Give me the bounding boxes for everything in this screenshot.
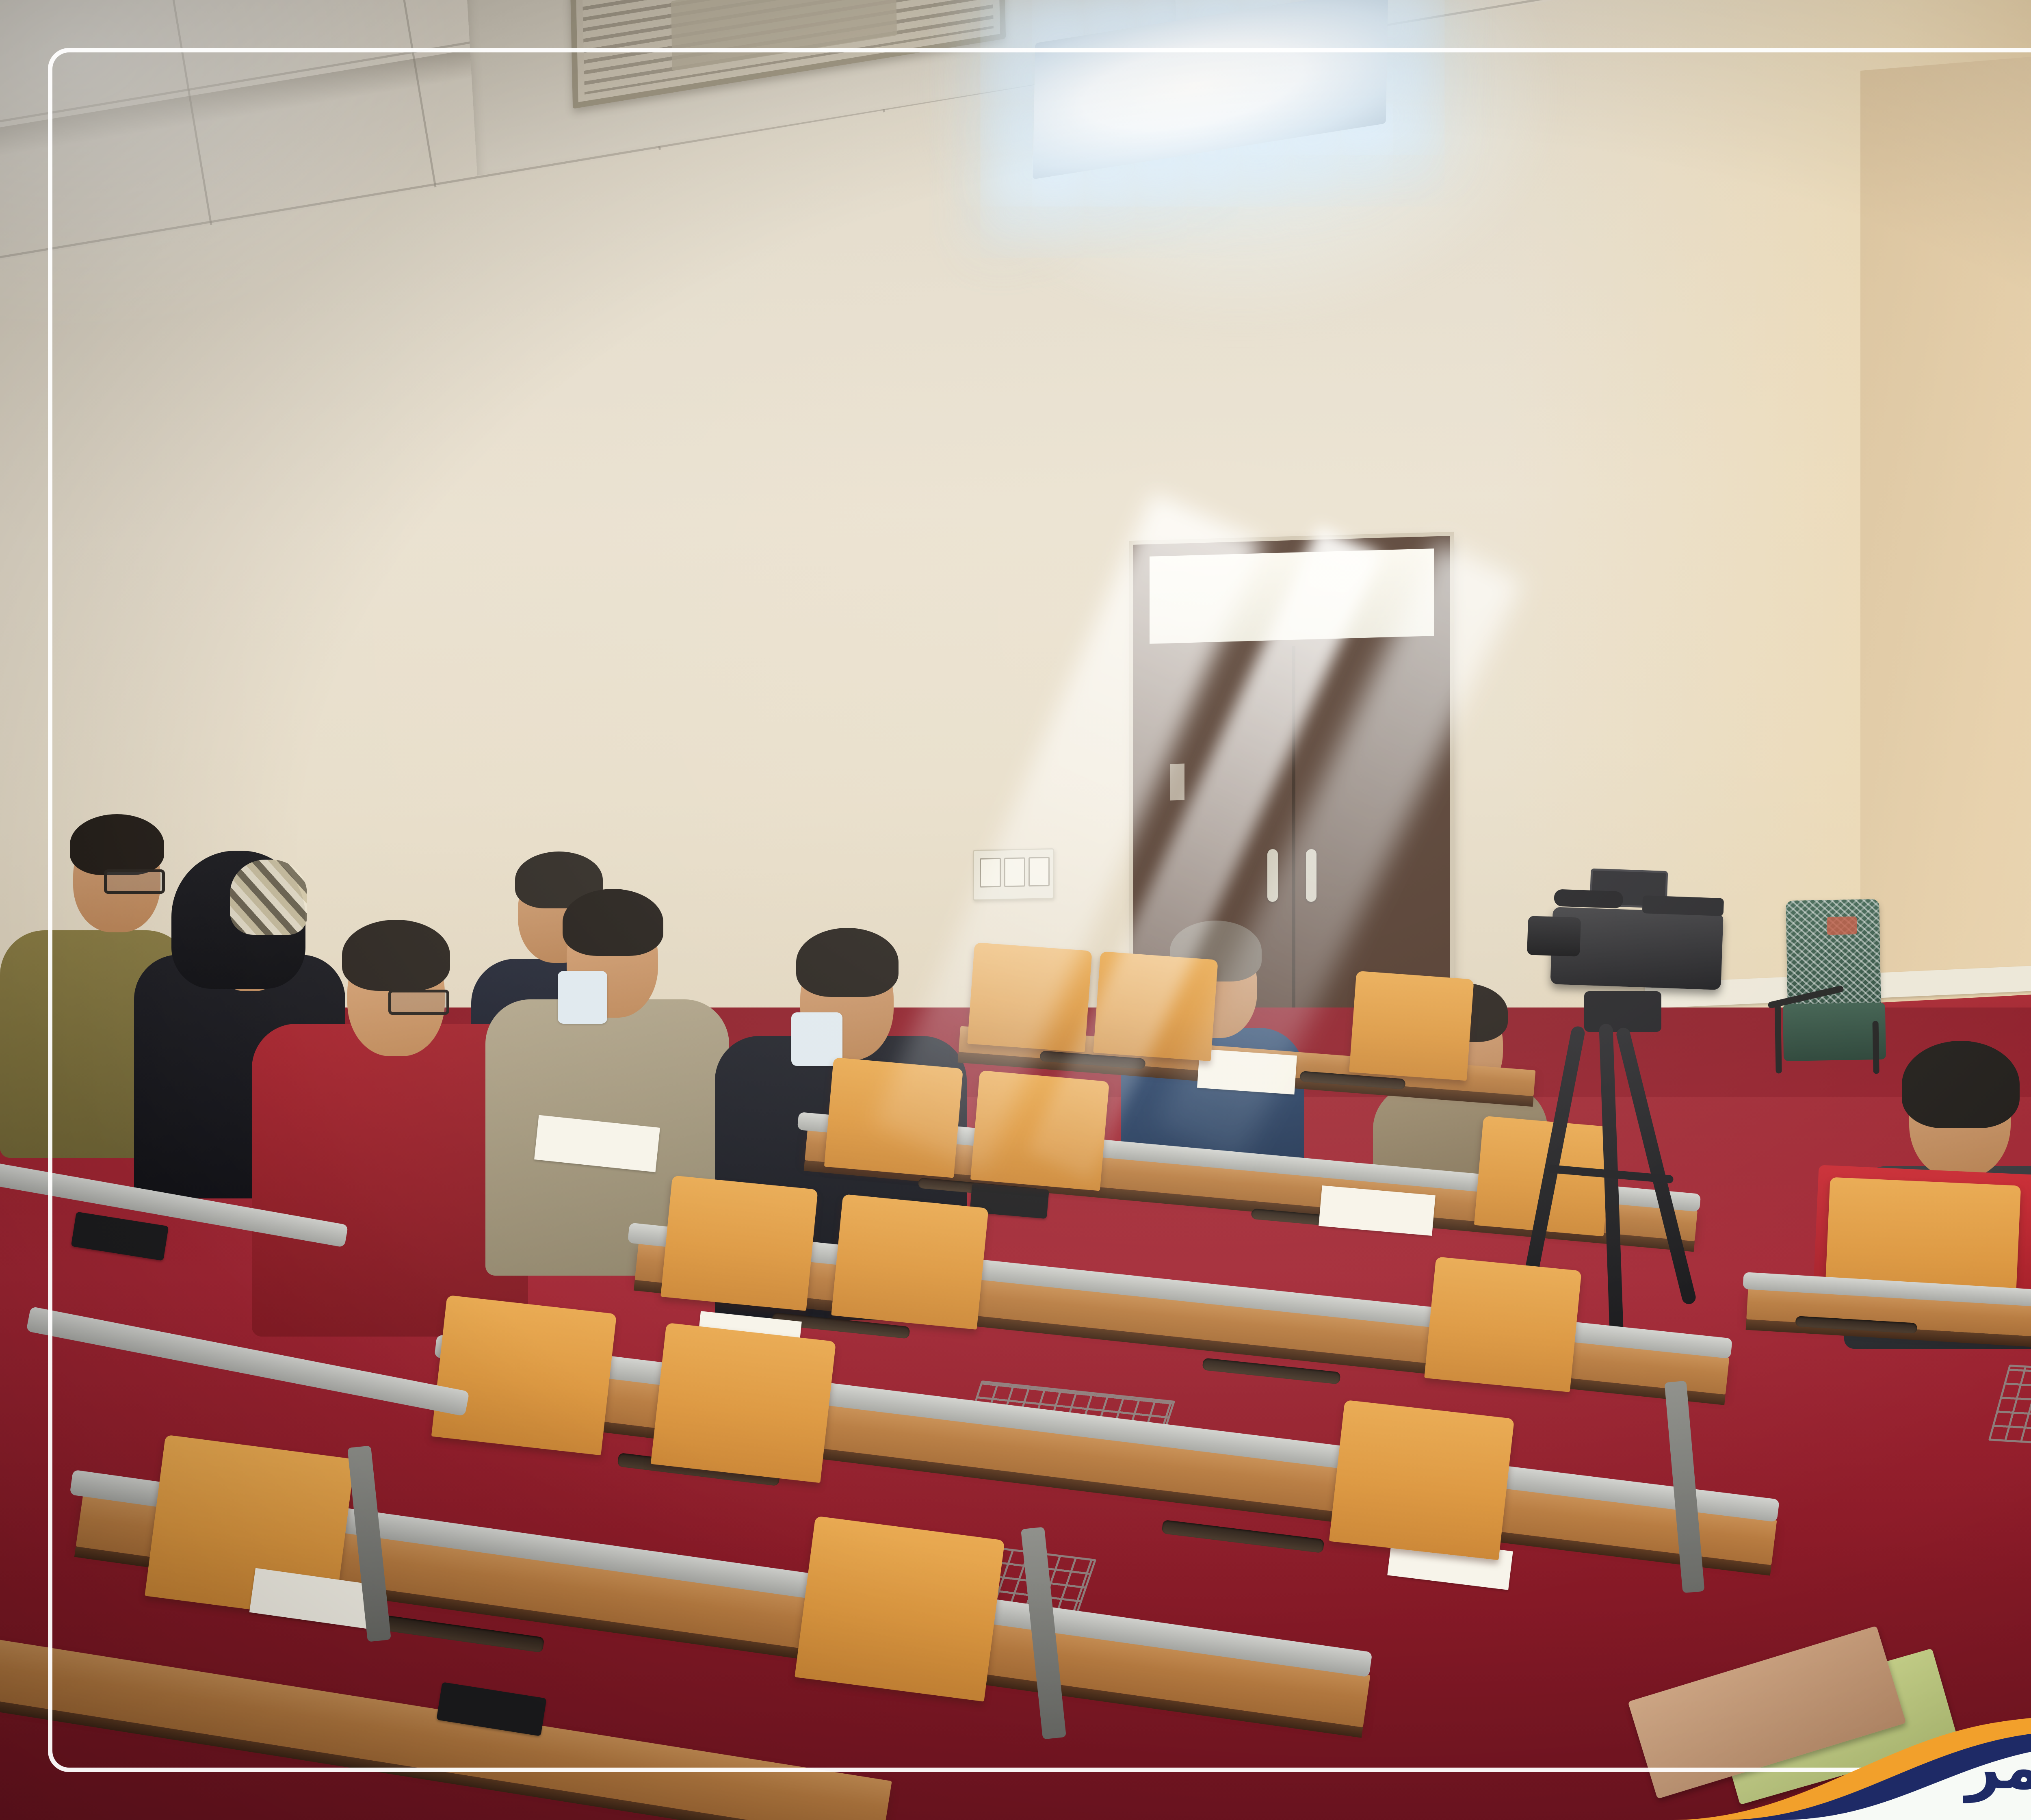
video-camera-icon[interactable] [1525, 882, 1757, 1007]
seat-back[interactable] [1093, 951, 1218, 1062]
door-handle-icon-2[interactable] [1306, 849, 1316, 902]
face-mask-icon [558, 971, 607, 1024]
seat-back[interactable] [651, 1323, 836, 1483]
camera-mic [1554, 889, 1623, 908]
face-mask-icon [791, 1012, 842, 1066]
handout-paper[interactable] [1197, 1049, 1297, 1095]
door-plate [1170, 763, 1184, 800]
camera-lens [1527, 916, 1581, 956]
seat-back[interactable] [1329, 1400, 1514, 1560]
seat-back[interactable] [1349, 971, 1474, 1081]
lecture-hall-scene: مفهوم التعليم المستمر وأهدافه التعليم ال… [0, 0, 2031, 1820]
chair-leg-left [1775, 1002, 1782, 1073]
person-hair [563, 889, 663, 956]
seat-back[interactable] [970, 1070, 1109, 1191]
seat-back[interactable] [824, 1057, 963, 1178]
camera-handle [1642, 895, 1724, 916]
photo-canvas: مفهوم التعليم المستمر وأهدافه التعليم ال… [0, 0, 2031, 1820]
seat-back[interactable] [660, 1175, 818, 1311]
seat-back[interactable] [1424, 1257, 1582, 1392]
eyeglasses-icon [388, 990, 449, 1015]
door-handle-icon[interactable] [1267, 849, 1278, 902]
seat-back[interactable] [431, 1295, 617, 1456]
seat-back[interactable] [967, 942, 1092, 1053]
door-transom-window [1150, 548, 1434, 644]
person-hair [342, 920, 450, 991]
tripod-head [1584, 991, 1661, 1032]
seat-back[interactable] [831, 1194, 989, 1330]
chair-tag [1827, 916, 1857, 935]
light-switch-panel[interactable] [973, 848, 1054, 901]
person-hair [796, 928, 899, 997]
person-hair [1902, 1041, 2020, 1128]
seat-back[interactable] [795, 1516, 1005, 1701]
